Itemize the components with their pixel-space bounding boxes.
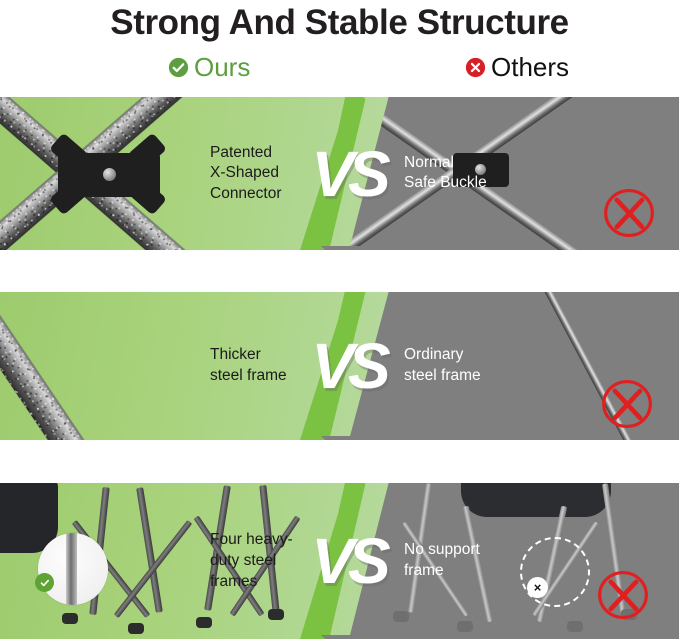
row3-ours-label-line2: duty steel: [210, 551, 330, 572]
row1-others-label-line1: Normal: [404, 153, 544, 174]
column-header-ours-label: Ours: [194, 52, 250, 83]
magnified-steel-tube: [66, 533, 77, 605]
row3-ours-label-line1: Four heavy-: [210, 530, 330, 551]
rivet-icon: [103, 168, 116, 181]
check-circle-icon: [168, 57, 189, 78]
row1-ours-label-line2: X-Shaped: [210, 163, 330, 184]
row3-red-x-mark: [595, 567, 651, 623]
comparison-row-2: VS Thicker steel frame Ordinary steel fr…: [0, 292, 679, 440]
row2-divider-spur: [321, 436, 375, 440]
column-headers: Ours Others: [0, 52, 679, 92]
row1-ours-label-line3: Connector: [210, 184, 330, 205]
column-header-others: Others: [465, 52, 569, 83]
row2-others-label-line2: steel frame: [404, 366, 544, 387]
row3-divider-spur: [321, 635, 375, 639]
support-frame-magnifier: [38, 533, 108, 605]
row1-ours-label-line1: Patented: [210, 142, 330, 163]
check-badge-icon: [35, 573, 54, 592]
column-header-others-label: Others: [491, 52, 569, 83]
row3-ours-label: Four heavy- duty steel frames: [210, 530, 330, 592]
row2-others-label: Ordinary steel frame: [404, 345, 544, 387]
row1-others-label: Normal Safe Buckle: [404, 153, 544, 195]
page-title: Strong And Stable Structure: [0, 0, 679, 46]
row2-red-x-mark: [599, 376, 655, 432]
row1-others-label-line2: Safe Buckle: [404, 174, 544, 195]
row2-ours-label: Thicker steel frame: [210, 345, 330, 387]
comparison-row-1: VS Patented X-Shaped Connector Normal Sa…: [0, 97, 679, 250]
x-circle-icon: [465, 57, 486, 78]
missing-frame-dashed-circle: [520, 537, 590, 607]
row2-ours-label-line1: Thicker: [210, 345, 330, 366]
row1-divider-spur: [321, 246, 375, 250]
row1-ours-label: Patented X-Shaped Connector: [210, 142, 330, 204]
column-header-ours: Ours: [168, 52, 250, 83]
row2-others-label-line1: Ordinary: [404, 345, 544, 366]
row2-ours-label-line2: steel frame: [210, 366, 330, 387]
row1-red-x-mark: [601, 185, 657, 241]
x-badge-icon: ×: [527, 577, 548, 598]
row3-ours-label-line3: frames: [210, 571, 330, 592]
